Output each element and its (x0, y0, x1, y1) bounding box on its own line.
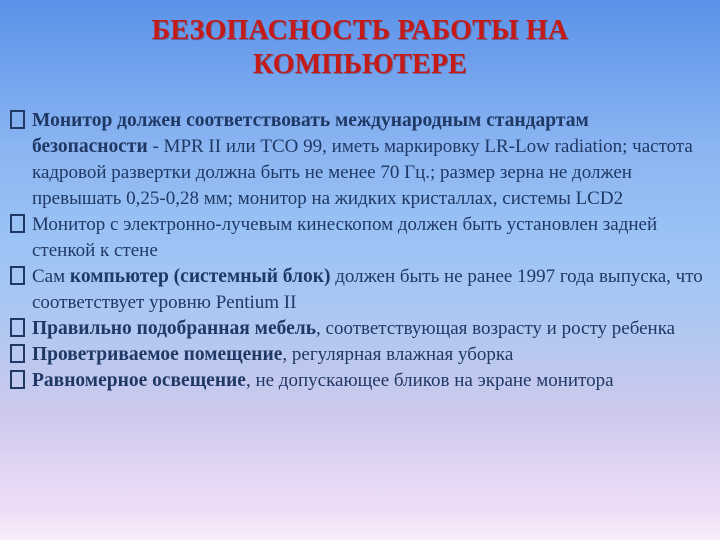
list-item-body: , не допускающее бликов на экране монито… (246, 370, 614, 391)
list-item-text: Равномерное освещение, не допускающее бл… (32, 368, 704, 394)
list-item-emphasis: Правильно подобранная мебель (32, 318, 316, 339)
list-item: Равномерное освещение, не допускающее бл… (0, 368, 720, 394)
bullet-list: Монитор должен соответствовать междунаро… (0, 108, 720, 394)
list-item-body: , регулярная влажная уборка (282, 344, 513, 365)
bullet-square-icon (10, 264, 32, 290)
bullet-square-icon (10, 108, 32, 134)
list-item-body: , соответствующая возрасту и росту ребен… (316, 318, 675, 339)
list-item-body: Монитор с электронно-лучевым кинескопом … (32, 214, 657, 261)
bullet-square-icon (10, 342, 32, 368)
list-item-text: Монитор должен соответствовать междунаро… (32, 108, 704, 212)
list-item: Сам компьютер (системный блок) должен бы… (0, 264, 720, 316)
bullet-square-icon (10, 212, 32, 238)
list-item-emphasis: Проветриваемое помещение (32, 344, 282, 365)
list-item-text: Правильно подобранная мебель, соответств… (32, 316, 704, 342)
list-item-text: Проветриваемое помещение, регулярная вла… (32, 342, 704, 368)
list-item-text: Монитор с электронно-лучевым кинескопом … (32, 212, 704, 264)
bullet-square-icon (10, 368, 32, 394)
list-item: Правильно подобранная мебель, соответств… (0, 316, 720, 342)
page-title-line-2: КОМПЬЮТЕРЕ (40, 48, 680, 82)
list-item: Проветриваемое помещение, регулярная вла… (0, 342, 720, 368)
list-item: Монитор должен соответствовать междунаро… (0, 108, 720, 212)
list-item-emphasis: компьютер (системный блок) (70, 266, 331, 287)
list-item-text: Сам компьютер (системный блок) должен бы… (32, 264, 704, 316)
list-item-prefix: Сам (32, 266, 70, 287)
list-item-emphasis: Равномерное освещение (32, 370, 246, 391)
presentation-slide: БЕЗОПАСНОСТЬ РАБОТЫ НА КОМПЬЮТЕРЕ Монито… (0, 0, 720, 540)
page-title: БЕЗОПАСНОСТЬ РАБОТЫ НА КОМПЬЮТЕРЕ (40, 14, 680, 82)
bullet-square-icon (10, 316, 32, 342)
page-title-line-1: БЕЗОПАСНОСТЬ РАБОТЫ НА (40, 14, 680, 48)
list-item: Монитор с электронно-лучевым кинескопом … (0, 212, 720, 264)
